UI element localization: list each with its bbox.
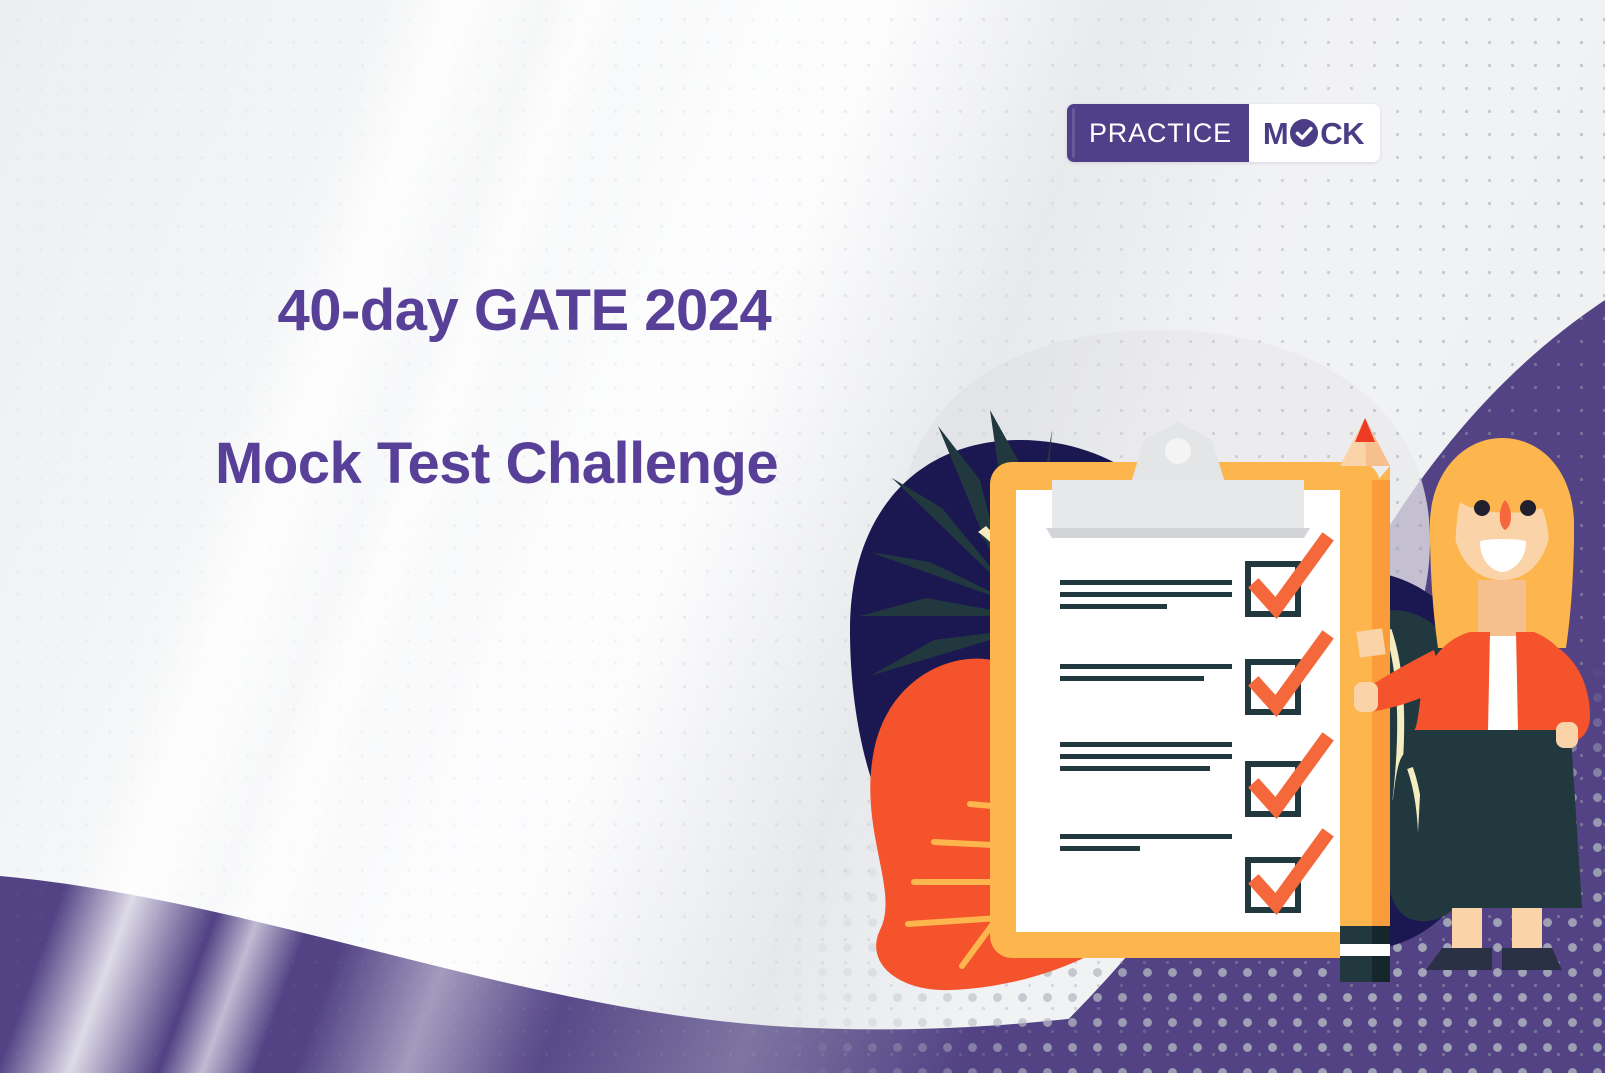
checklist-line: [1060, 742, 1232, 747]
checklist-line: [1060, 592, 1232, 597]
check-circle-icon: [1289, 118, 1319, 148]
headline-line-1: 40-day GATE 2024: [277, 278, 771, 343]
skirt: [1414, 720, 1582, 908]
headline-line-2: Mock Test Challenge: [215, 426, 778, 503]
logo-mock-m: M: [1263, 118, 1288, 149]
shoe-left: [1426, 948, 1492, 970]
page-title: 40-day GATE 2024 Mock Test Challenge: [215, 196, 778, 655]
checklist-line: [1060, 580, 1232, 585]
clipboard-checklist-illustration: [830, 330, 1605, 1010]
eye-left: [1474, 500, 1490, 516]
clipboard-clip-front: [1046, 422, 1310, 538]
promotional-banner: PRACTICE M CK 40-day GATE 2024 Mock Test…: [0, 0, 1605, 1073]
logo-practice-block: PRACTICE: [1067, 104, 1249, 162]
hand-left: [1354, 682, 1378, 712]
checklist-line: [1060, 846, 1140, 851]
checklist-line: [1060, 664, 1232, 669]
checklist-line: [1060, 676, 1204, 681]
checklist-line: [1060, 766, 1210, 771]
checklist-line: [1060, 754, 1232, 759]
hand-right: [1556, 722, 1578, 748]
practicemock-logo[interactable]: PRACTICE M CK: [1067, 104, 1380, 162]
logo-mock-block: M CK: [1249, 104, 1380, 162]
shoe-right: [1502, 948, 1562, 970]
logo-practice-text: PRACTICE: [1089, 118, 1232, 149]
checklist-line: [1060, 834, 1232, 839]
checklist-line: [1060, 604, 1167, 609]
eye-right: [1520, 500, 1536, 516]
logo-mock-ck: CK: [1320, 118, 1364, 149]
